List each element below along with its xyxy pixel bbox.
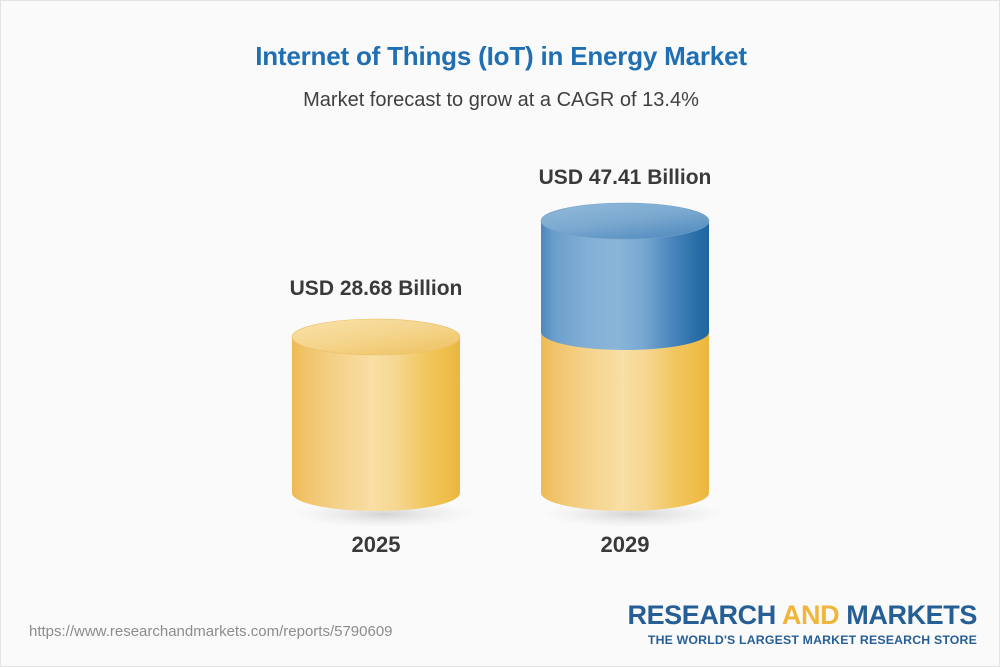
cylinder-upper-segment-2029 [541, 221, 709, 350]
bar-category-label-2025: 2025 [236, 532, 516, 558]
brand-logo[interactable]: RESEARCH AND MARKETS THE WORLD'S LARGEST… [627, 602, 977, 646]
brand-word-research: RESEARCH [627, 600, 781, 630]
bar-value-label-2029: USD 47.41 Billion [485, 166, 765, 190]
brand-word-and: AND [782, 600, 839, 630]
cylinder-top-2025 [292, 319, 460, 355]
report-url[interactable]: https://www.researchandmarkets.com/repor… [29, 623, 393, 640]
plot-area: USD 28.68 Billion [1, 1, 1000, 601]
brand-word-markets: MARKETS [839, 600, 977, 630]
chart-canvas: Internet of Things (IoT) in Energy Marke… [0, 0, 1000, 667]
cylinder-top-2029 [541, 203, 709, 239]
bar-value-label-2025: USD 28.68 Billion [236, 277, 516, 301]
brand-wordmark: RESEARCH AND MARKETS [627, 602, 977, 629]
brand-tagline: THE WORLD'S LARGEST MARKET RESEARCH STOR… [627, 634, 977, 646]
cylinder-base-segment-2029 [541, 332, 709, 511]
bar-category-label-2029: 2029 [485, 532, 765, 558]
cylinder-bar-2025[interactable] [289, 317, 469, 523]
cylinder-bar-2029[interactable] [538, 201, 718, 523]
cylinder-body-2025 [292, 337, 460, 511]
